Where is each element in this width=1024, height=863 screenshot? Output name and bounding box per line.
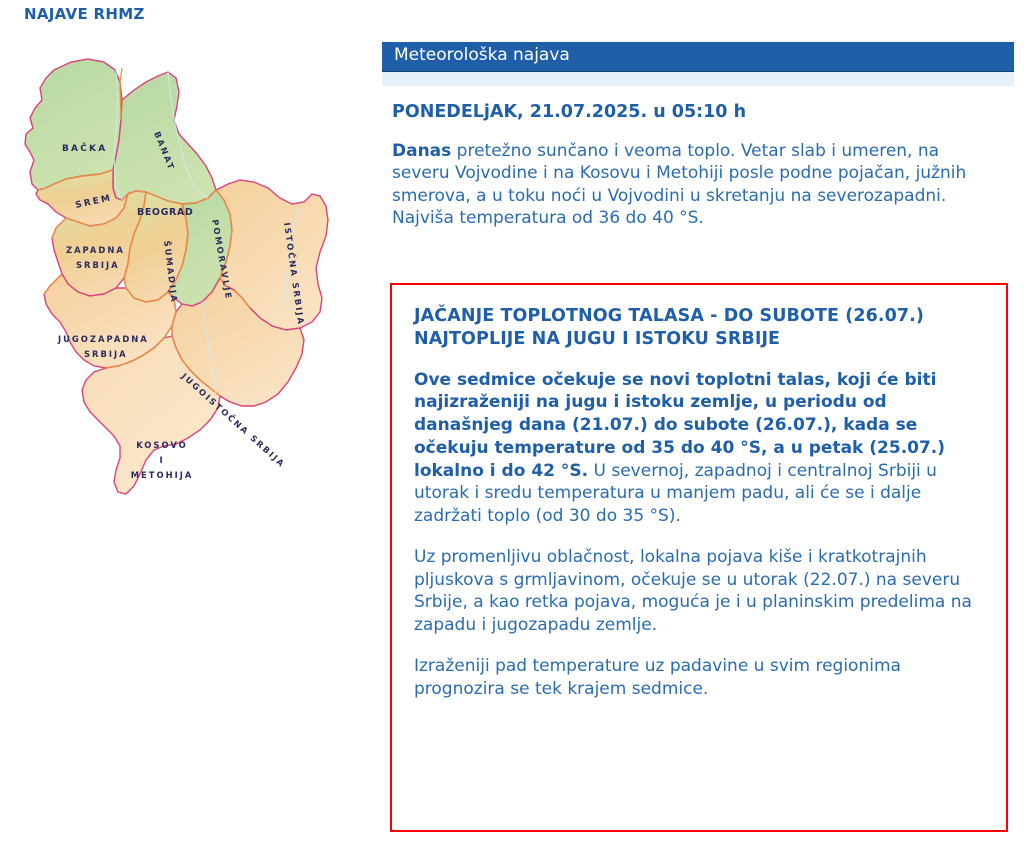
alert-title: JAČANJE TOPLOTNOG TALASA - DO SUBOTE (26… bbox=[414, 305, 986, 351]
forecast-today-paragraph: Danas pretežno sunčano i veoma toplo. Ve… bbox=[392, 140, 992, 230]
map-label-zapadna-srbija: ZAPADNA bbox=[66, 245, 125, 255]
forecast-today-lead: Danas bbox=[392, 141, 451, 161]
map-label-beograd: BEOGRAD bbox=[137, 207, 193, 218]
map-label-zapadna-srbija-line2: SRBIJA bbox=[76, 260, 120, 270]
alert-paragraph-3: Izraženiji pad temperature uz padavine u… bbox=[414, 655, 986, 701]
serbia-regions-map: BAČKA BANAT SREM BEOGRAD ZAPADNA SRBIJA … bbox=[16, 48, 372, 608]
section-header-bar: Meteorološka najava bbox=[382, 42, 1014, 72]
forecast-column: Meteorološka najava PONEDELjAK, 21.07.20… bbox=[382, 42, 1014, 230]
header-under-band bbox=[382, 72, 1014, 86]
forecast-date-heading: PONEDELjAK, 21.07.2025. u 05:10 h bbox=[392, 102, 1014, 122]
map-label-kosovo: KOSOVO bbox=[136, 440, 188, 450]
map-svg: BAČKA BANAT SREM BEOGRAD ZAPADNA SRBIJA … bbox=[16, 48, 372, 608]
region-backa bbox=[25, 59, 122, 190]
forecast-today-rest: pretežno sunčano i veoma toplo. Vetar sl… bbox=[392, 141, 966, 229]
map-label-kosovo-i: I bbox=[159, 455, 164, 465]
page-title: NAJAVE RHMZ bbox=[24, 5, 145, 23]
map-label-jugozapadna-srbija-line2: SRBIJA bbox=[84, 349, 128, 359]
map-label-jugozapadna-srbija: JUGOZAPADNA bbox=[57, 334, 149, 344]
alert-paragraph-1: Ove sedmice očekuje se novi toplotni tal… bbox=[414, 369, 986, 528]
heat-wave-alert-box: JAČANJE TOPLOTNOG TALASA - DO SUBOTE (26… bbox=[390, 283, 1008, 832]
map-label-metohija: METOHIJA bbox=[131, 470, 194, 480]
map-label-backa: BAČKA bbox=[62, 142, 107, 154]
alert-paragraph-2: Uz promenljivu oblačnost, lokalna pojava… bbox=[414, 546, 986, 637]
